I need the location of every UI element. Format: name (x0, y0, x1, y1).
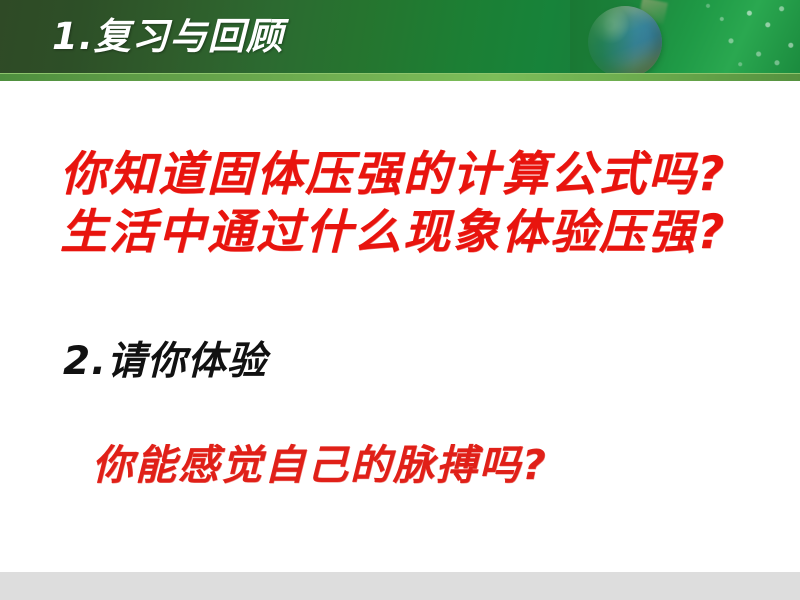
slide-body: 你知道固体压强的计算公式吗? 生活中通过什么现象体验压强? 2.请你体验 你能感… (0, 80, 800, 572)
question-line-2: 生活中通过什么现象体验压强? (60, 193, 726, 262)
page-title: 1.复习与回顾 (52, 8, 284, 66)
question-line-3: 你能感觉自己的脉搏吗? (92, 431, 548, 491)
leaf-droplet-photo (570, 0, 800, 73)
section-2-heading: 2.请你体验 (63, 330, 267, 386)
photo-fade-overlay (570, 0, 800, 73)
slide-canvas: 1.复习与回顾 你知道固体压强的计算公式吗? 生活中通过什么现象体验压强? 2.… (0, 0, 800, 600)
footer-bar (0, 572, 800, 600)
